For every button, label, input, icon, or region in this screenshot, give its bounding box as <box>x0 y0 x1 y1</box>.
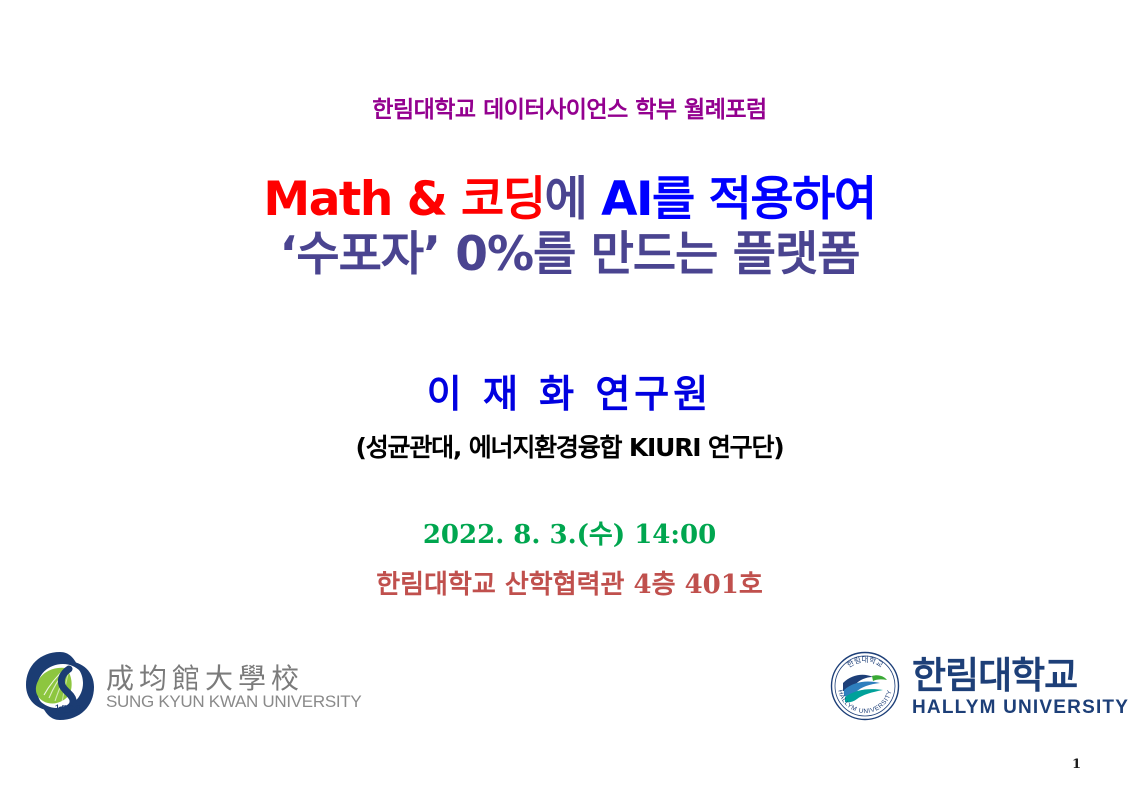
page-number: 1 <box>1072 757 1081 772</box>
title-line-1: Math & 코딩에 AI를 적용하여 <box>0 172 1139 227</box>
hallym-english-name: HALLYM UNIVERSITY <box>912 697 1129 720</box>
title-segment-ai-apply: AI를 적용하여 <box>601 172 875 227</box>
skku-logo: 1398 成均館大學校 SUNG KYUN KWAN UNIVERSITY <box>22 648 342 728</box>
skku-founded-year: 1398 <box>54 703 82 716</box>
forum-heading: 한림대학교 데이터사이언스 학부 월례포럼 <box>0 90 1139 124</box>
hallym-emblem-top-text: 한림대학교 <box>845 654 885 669</box>
title-segment-math-coding: Math & 코딩 <box>263 172 544 227</box>
presentation-slide: 한림대학교 데이터사이언스 학부 월례포럼 Math & 코딩에 AI를 적용하… <box>0 0 1139 785</box>
hallym-logo: 한림대학교 HALLYM UNIVERSITY 한림대학교 HALLYM UNI… <box>828 648 1118 728</box>
event-location: 한림대학교 산학협력관 4층 401호 <box>0 564 1139 601</box>
hallym-emblem-icon: 한림대학교 HALLYM UNIVERSITY <box>828 649 902 728</box>
skku-hanja-name: 成均館大學校 <box>106 664 361 693</box>
skku-logotype: 成均館大學校 SUNG KYUN KWAN UNIVERSITY <box>106 664 361 712</box>
speaker-name: 이 재 화 연구원 <box>0 363 1139 418</box>
hallym-korean-name: 한림대학교 <box>912 657 1129 694</box>
event-datetime: 2022. 8. 3.(수) 14:00 <box>0 514 1139 551</box>
title-line-2: ‘수포자’ 0%를 만드는 플랫폼 <box>0 227 1139 282</box>
skku-roman-name: SUNG KYUN KWAN UNIVERSITY <box>106 693 361 712</box>
title-segment-particle: 에 <box>545 172 602 227</box>
skku-emblem-icon: 1398 <box>22 648 98 729</box>
hallym-logotype: 한림대학교 HALLYM UNIVERSITY <box>912 657 1129 720</box>
speaker-affiliation: (성균관대, 에너지환경융합 KIURI 연구단) <box>0 428 1139 464</box>
slide-title-block: Math & 코딩에 AI를 적용하여 ‘수포자’ 0%를 만드는 플랫폼 <box>0 172 1139 282</box>
